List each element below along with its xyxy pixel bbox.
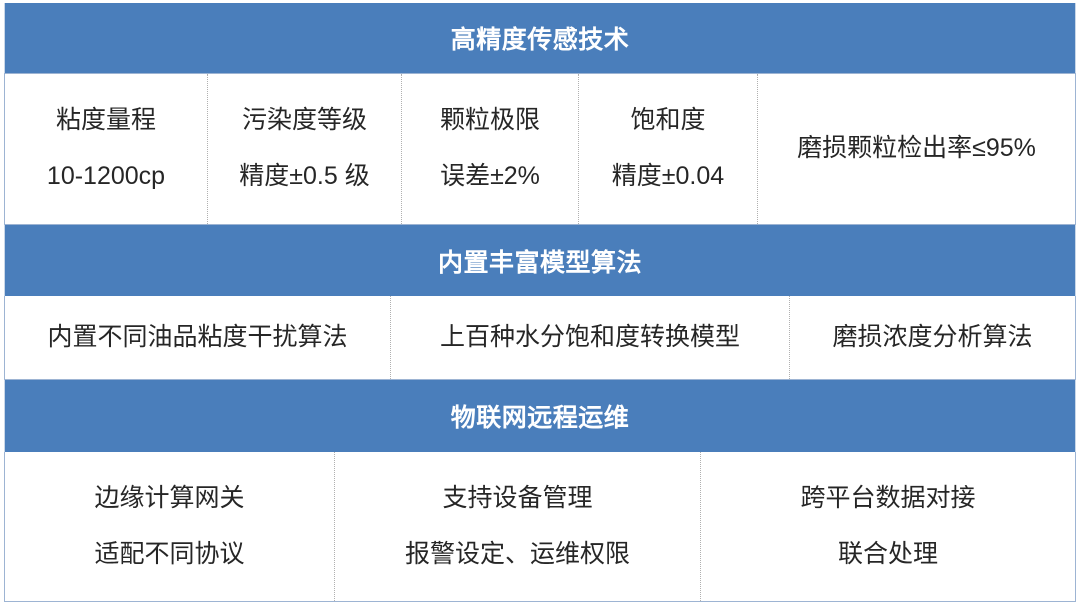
- cell-line: 磨损浓度分析算法: [832, 321, 1032, 355]
- cell-line: 磨损颗粒检出率≤95%: [797, 132, 1036, 166]
- cell-line: 精度±0.04: [612, 160, 724, 194]
- section-builtin-model-algorithms: 内置丰富模型算法 内置不同油品粘度干扰算法 上百种水分饱和度转换模型 磨损浓度分…: [4, 225, 1076, 380]
- feature-table: 高精度传感技术 粘度量程 10-1200cp 污染度等级 精度±0.5 级 颗粒…: [4, 3, 1076, 602]
- table-cell-wear-particle-detection-rate: 磨损颗粒检出率≤95%: [758, 74, 1075, 224]
- cell-line: 粘度量程: [56, 104, 156, 138]
- cell-line: 颗粒极限: [440, 104, 540, 138]
- cell-line: 支持设备管理: [442, 482, 592, 516]
- cell-line: 报警设定、运维权限: [405, 538, 630, 572]
- table-cell-wear-concentration-analysis-algorithm: 磨损浓度分析算法: [790, 296, 1075, 379]
- section-header-iot-remote-operation: 物联网远程运维: [4, 380, 1076, 452]
- section-iot-remote-operation: 物联网远程运维 边缘计算网关 适配不同协议 支持设备管理 报警设定、运维权限 跨…: [4, 380, 1076, 602]
- table-cell-device-management: 支持设备管理 报警设定、运维权限: [335, 452, 701, 601]
- cell-line: 饱和度: [630, 104, 705, 138]
- cell-line: 上百种水分饱和度转换模型: [440, 321, 740, 355]
- cell-line: 联合处理: [838, 538, 938, 572]
- section-header-builtin-model-algorithms: 内置丰富模型算法: [4, 225, 1076, 296]
- table-row: 粘度量程 10-1200cp 污染度等级 精度±0.5 级 颗粒极限 误差±2%…: [4, 73, 1076, 225]
- table-row: 内置不同油品粘度干扰算法 上百种水分饱和度转换模型 磨损浓度分析算法: [4, 296, 1076, 380]
- section-header-high-precision-sensing: 高精度传感技术: [4, 3, 1076, 73]
- cell-line: 精度±0.5 级: [239, 160, 369, 194]
- cell-line: 污染度等级: [242, 104, 367, 138]
- table-cell-oil-viscosity-interference-algorithm: 内置不同油品粘度干扰算法: [5, 296, 391, 379]
- table-cell-saturation: 饱和度 精度±0.04: [579, 74, 758, 224]
- cell-line: 误差±2%: [440, 160, 540, 194]
- table-cell-particle-limit: 颗粒极限 误差±2%: [402, 74, 579, 224]
- cell-line: 内置不同油品粘度干扰算法: [47, 321, 347, 355]
- table-cell-cross-platform-data-integration: 跨平台数据对接 联合处理: [701, 452, 1075, 601]
- table-cell-viscosity-range: 粘度量程 10-1200cp: [5, 74, 208, 224]
- table-cell-contamination-level: 污染度等级 精度±0.5 级: [208, 74, 402, 224]
- table-cell-moisture-saturation-conversion-models: 上百种水分饱和度转换模型: [391, 296, 790, 379]
- table-row: 边缘计算网关 适配不同协议 支持设备管理 报警设定、运维权限 跨平台数据对接 联…: [4, 452, 1076, 602]
- section-high-precision-sensing: 高精度传感技术 粘度量程 10-1200cp 污染度等级 精度±0.5 级 颗粒…: [4, 3, 1076, 225]
- cell-line: 适配不同协议: [94, 538, 244, 572]
- cell-line: 跨平台数据对接: [800, 482, 975, 516]
- cell-line: 边缘计算网关: [94, 482, 244, 516]
- table-cell-edge-computing-gateway: 边缘计算网关 适配不同协议: [5, 452, 335, 601]
- cell-line: 10-1200cp: [47, 160, 165, 194]
